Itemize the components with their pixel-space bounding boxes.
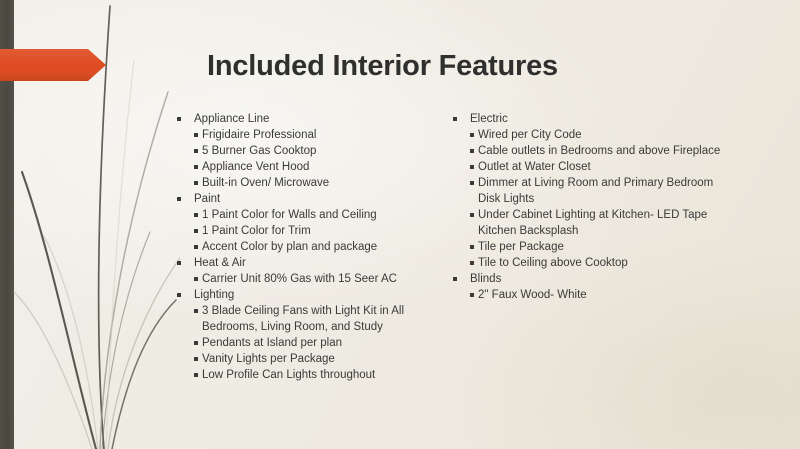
list-item: 2" Faux Wood- White bbox=[448, 287, 733, 303]
group-label: Blinds bbox=[470, 273, 501, 285]
list-item-label: Vanity Lights per Package bbox=[202, 353, 335, 365]
list-item: Dimmer at Living Room and Primary Bedroo… bbox=[448, 175, 733, 207]
group-label: Lighting bbox=[194, 289, 234, 301]
square-bullet-icon bbox=[470, 213, 474, 217]
list-item: Wired per City Code bbox=[448, 127, 733, 143]
square-bullet-icon bbox=[470, 181, 474, 185]
list-item-label: Under Cabinet Lighting at Kitchen- LED T… bbox=[478, 209, 707, 237]
list-item-label: Cable outlets in Bedrooms and above Fire… bbox=[478, 145, 720, 157]
square-bullet-icon bbox=[470, 149, 474, 153]
square-bullet-icon bbox=[453, 277, 457, 281]
square-bullet-icon bbox=[470, 165, 474, 169]
list-item-label: Low Profile Can Lights throughout bbox=[202, 369, 375, 381]
square-bullet-icon bbox=[194, 373, 198, 377]
square-bullet-icon bbox=[194, 245, 198, 249]
page-title: Included Interior Features bbox=[207, 50, 558, 83]
list-item: 3 Blade Ceiling Fans with Light Kit in A… bbox=[172, 303, 447, 335]
square-bullet-icon bbox=[194, 341, 198, 345]
list-item: Appliance Vent Hood bbox=[172, 159, 447, 175]
square-bullet-icon bbox=[194, 181, 198, 185]
square-bullet-icon bbox=[194, 357, 198, 361]
list-item: Built-in Oven/ Microwave bbox=[172, 175, 447, 191]
features-column-left: Appliance Line Frigidaire Professional 5… bbox=[172, 111, 447, 383]
group-label: Appliance Line bbox=[194, 113, 269, 125]
list-item: Vanity Lights per Package bbox=[172, 351, 447, 367]
square-bullet-icon bbox=[194, 165, 198, 169]
square-bullet-icon bbox=[194, 149, 198, 153]
group-label: Electric bbox=[470, 113, 508, 125]
square-bullet-icon bbox=[194, 133, 198, 137]
list-item-label: Appliance Vent Hood bbox=[202, 161, 309, 173]
list-item: 5 Burner Gas Cooktop bbox=[172, 143, 447, 159]
square-bullet-icon bbox=[470, 133, 474, 137]
list-item-label: Wired per City Code bbox=[478, 129, 582, 141]
orange-arrow-banner-icon bbox=[0, 49, 106, 81]
list-item-label: Frigidaire Professional bbox=[202, 129, 316, 141]
list-item: Low Profile Can Lights throughout bbox=[172, 367, 447, 383]
list-item: Carrier Unit 80% Gas with 15 Seer AC bbox=[172, 271, 447, 287]
list-item-label: Dimmer at Living Room and Primary Bedroo… bbox=[478, 177, 713, 205]
list-item-label: Tile per Package bbox=[478, 241, 564, 253]
group-label: Heat & Air bbox=[194, 257, 246, 269]
square-bullet-icon bbox=[177, 293, 181, 297]
square-bullet-icon bbox=[470, 261, 474, 265]
list-item: Cable outlets in Bedrooms and above Fire… bbox=[448, 143, 733, 159]
square-bullet-icon bbox=[470, 293, 474, 297]
list-item-group-heading: Lighting bbox=[172, 287, 447, 303]
list-item-label: Tile to Ceiling above Cooktop bbox=[478, 257, 628, 269]
square-bullet-icon bbox=[453, 117, 457, 121]
list-item-label: Accent Color by plan and package bbox=[202, 241, 377, 253]
square-bullet-icon bbox=[194, 229, 198, 233]
list-item-label: 2" Faux Wood- White bbox=[478, 289, 587, 301]
group-label: Paint bbox=[194, 193, 220, 205]
list-item: Tile per Package bbox=[448, 239, 733, 255]
list-item-group-heading: Paint bbox=[172, 191, 447, 207]
list-item-label: Pendants at Island per plan bbox=[202, 337, 342, 349]
list-item-group-heading: Appliance Line bbox=[172, 111, 447, 127]
list-item-label: 1 Paint Color for Trim bbox=[202, 225, 311, 237]
list-item-label: 1 Paint Color for Walls and Ceiling bbox=[202, 209, 377, 221]
list-item-group-heading: Blinds bbox=[448, 271, 733, 287]
list-item-label: Outlet at Water Closet bbox=[478, 161, 591, 173]
list-item: 1 Paint Color for Trim bbox=[172, 223, 447, 239]
list-item: Pendants at Island per plan bbox=[172, 335, 447, 351]
square-bullet-icon bbox=[194, 309, 198, 313]
list-item: Tile to Ceiling above Cooktop bbox=[448, 255, 733, 271]
square-bullet-icon bbox=[470, 245, 474, 249]
square-bullet-icon bbox=[177, 261, 181, 265]
square-bullet-icon bbox=[177, 117, 181, 121]
list-item-group-heading: Heat & Air bbox=[172, 255, 447, 271]
list-item-label: Carrier Unit 80% Gas with 15 Seer AC bbox=[202, 273, 397, 285]
list-item-label: 5 Burner Gas Cooktop bbox=[202, 145, 316, 157]
square-bullet-icon bbox=[177, 197, 181, 201]
list-item: Outlet at Water Closet bbox=[448, 159, 733, 175]
list-item: Under Cabinet Lighting at Kitchen- LED T… bbox=[448, 207, 733, 239]
list-item: Frigidaire Professional bbox=[172, 127, 447, 143]
list-item: Accent Color by plan and package bbox=[172, 239, 447, 255]
list-item-label: 3 Blade Ceiling Fans with Light Kit in A… bbox=[202, 305, 404, 333]
list-item-group-heading: Electric bbox=[448, 111, 733, 127]
slide-canvas: Included Interior Features Appliance Lin… bbox=[0, 0, 800, 449]
list-item: 1 Paint Color for Walls and Ceiling bbox=[172, 207, 447, 223]
square-bullet-icon bbox=[194, 213, 198, 217]
features-column-right: Electric Wired per City Code Cable outle… bbox=[448, 111, 733, 303]
square-bullet-icon bbox=[194, 277, 198, 281]
list-item-label: Built-in Oven/ Microwave bbox=[202, 177, 329, 189]
